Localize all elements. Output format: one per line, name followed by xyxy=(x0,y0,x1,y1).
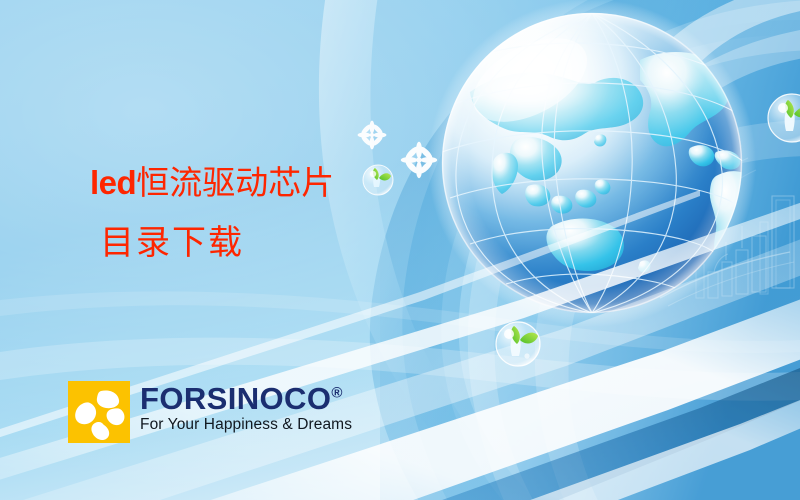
registered-mark-icon: ® xyxy=(331,385,342,402)
logo-tagline: For Your Happiness & Dreams xyxy=(140,416,352,434)
daisy-flower-small xyxy=(358,121,387,150)
promo-banner: led恒流驱动芯片 目录下载 FORSINOCO® For Your Happi… xyxy=(0,0,800,500)
company-logo[interactable]: FORSINOCO® For Your Happiness & Dreams xyxy=(68,381,352,443)
diagonal-light-ribbons xyxy=(0,190,800,500)
daisy-flower-large xyxy=(401,142,437,178)
logo-wordmark: FORSINOCO® xyxy=(140,383,352,414)
bubble-sprout-right xyxy=(768,94,800,142)
bubble-sprout-center xyxy=(496,322,540,366)
logo-mark-icon xyxy=(68,381,130,443)
logo-text-block: FORSINOCO® For Your Happiness & Dreams xyxy=(140,381,352,434)
bubble-sprout-left xyxy=(363,165,393,195)
pinwheel-petals-icon xyxy=(68,381,130,443)
logo-wordmark-text: FORSINOCO xyxy=(140,381,331,416)
